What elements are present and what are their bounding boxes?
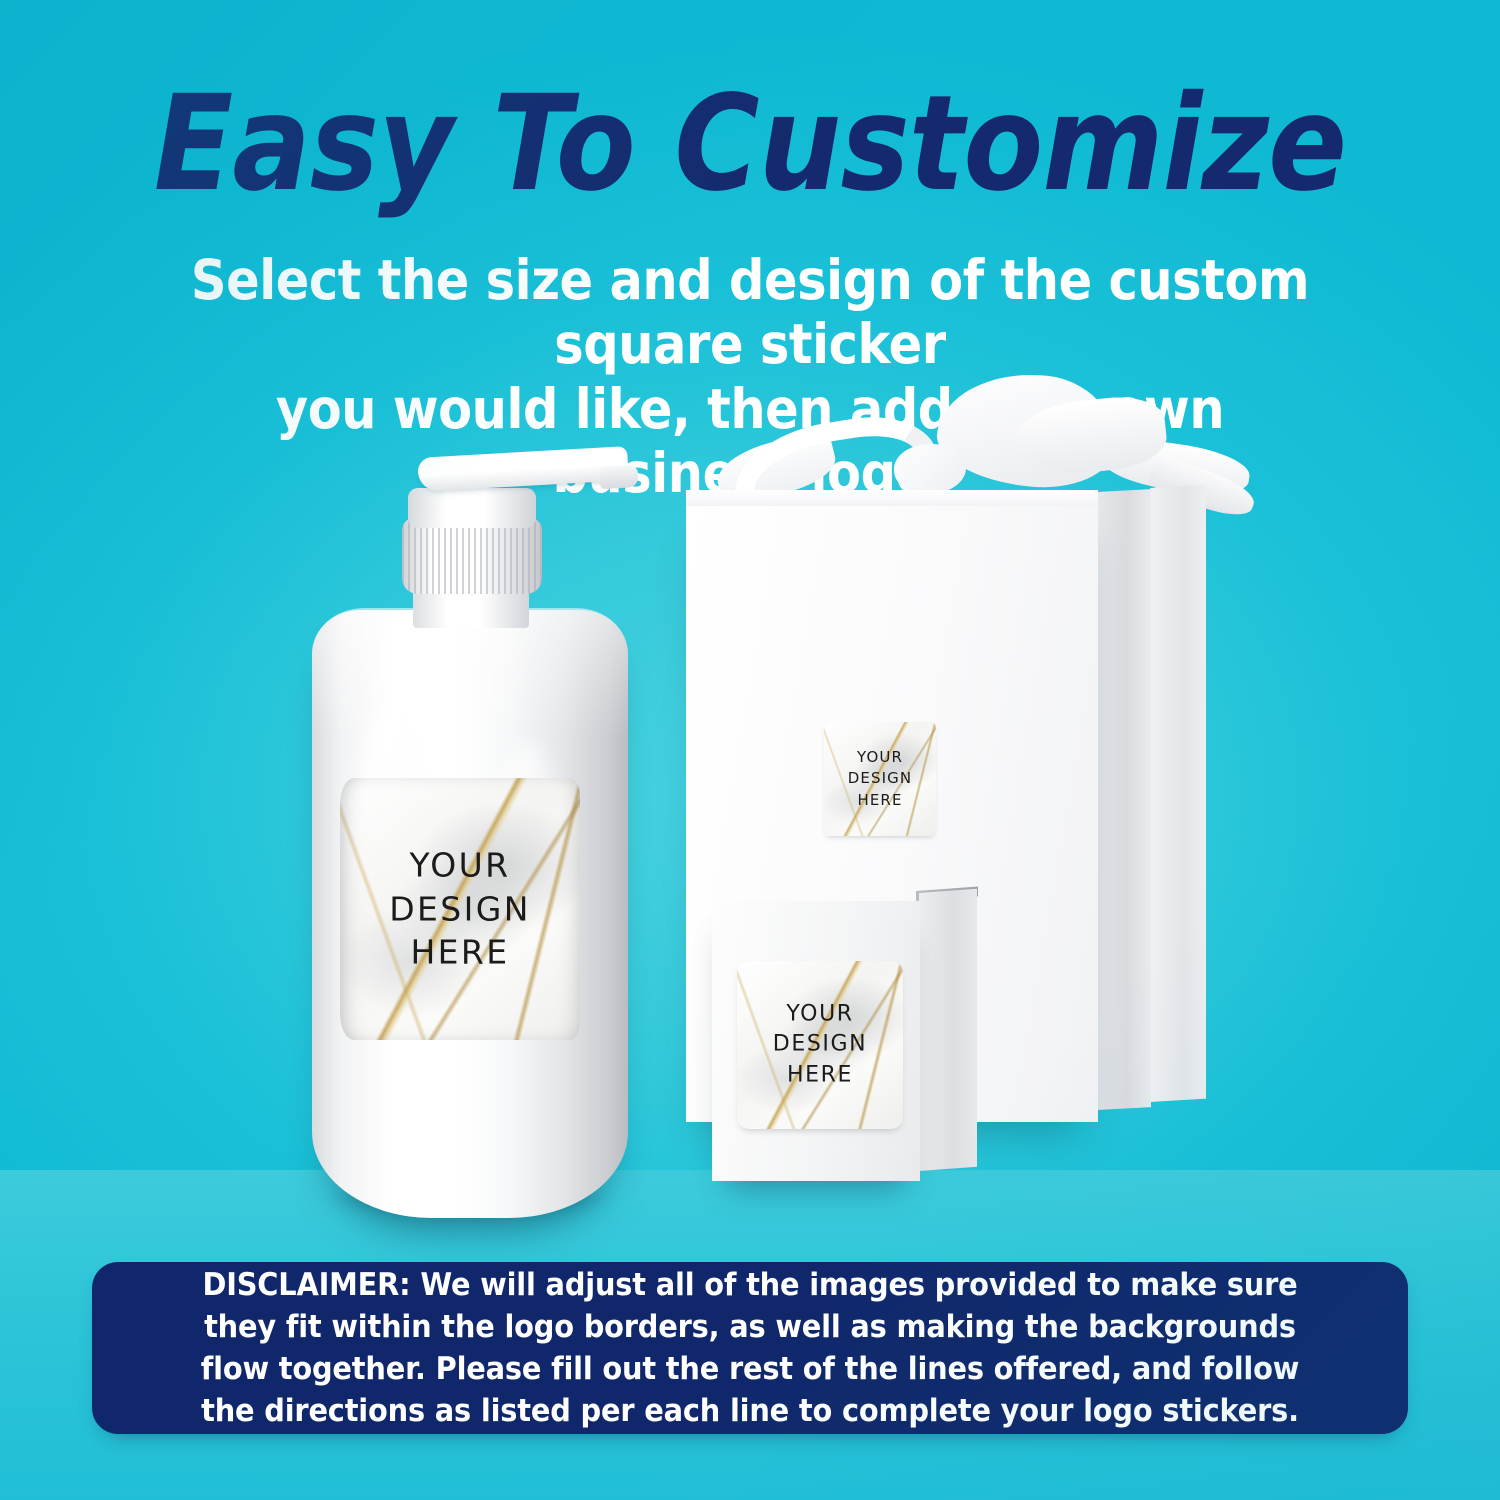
disclaimer-text: DISCLAIMER: We will adjust all of the im… [138,1264,1362,1433]
gift-box-sticker-text: YOUR DESIGN HERE [824,747,936,811]
gift-box-side-panel-2 [1150,485,1206,1102]
gift-box-marble-sticker: YOUR DESIGN HERE [824,722,936,836]
bottle-label-line-3: HERE [340,931,580,975]
bottle-label-line-2: DESIGN [340,887,580,931]
pump-nozzle [417,446,629,492]
small-sticker-line-2: DESIGN [737,1030,903,1060]
product-listing-image: Easy To Customize Select the size and de… [0,0,1500,1500]
disclaimer-banner: DISCLAIMER: We will adjust all of the im… [92,1262,1408,1434]
small-sticker-line-3: HERE [737,1060,903,1090]
gift-box-side-panel-1 [1097,489,1151,1110]
bottle-marble-label: YOUR DESIGN HERE [340,778,580,1040]
pump-collar-top [408,488,536,528]
small-box-marble-sticker: YOUR DESIGN HERE [737,961,903,1129]
bottle-label-line-1: YOUR [340,844,580,888]
small-box-side-panel [919,889,977,1171]
page-title: Easy To Customize [90,78,1410,210]
disclaimer-label: DISCLAIMER: [202,1267,410,1303]
pump-nozzle-tip [599,465,638,489]
subtitle-line-1: Select the size and design of the custom… [191,248,1309,376]
gift-sticker-line-1: YOUR [824,747,936,768]
pump-collar-ribbed [402,518,542,594]
gift-box-top-edge [686,490,1098,506]
gift-sticker-line-3: HERE [824,790,936,811]
bottle-label-text: YOUR DESIGN HERE [340,844,580,975]
small-box-sticker-text: YOUR DESIGN HERE [737,999,903,1090]
gift-sticker-line-2: DESIGN [824,768,936,789]
small-sticker-line-1: YOUR [737,999,903,1029]
